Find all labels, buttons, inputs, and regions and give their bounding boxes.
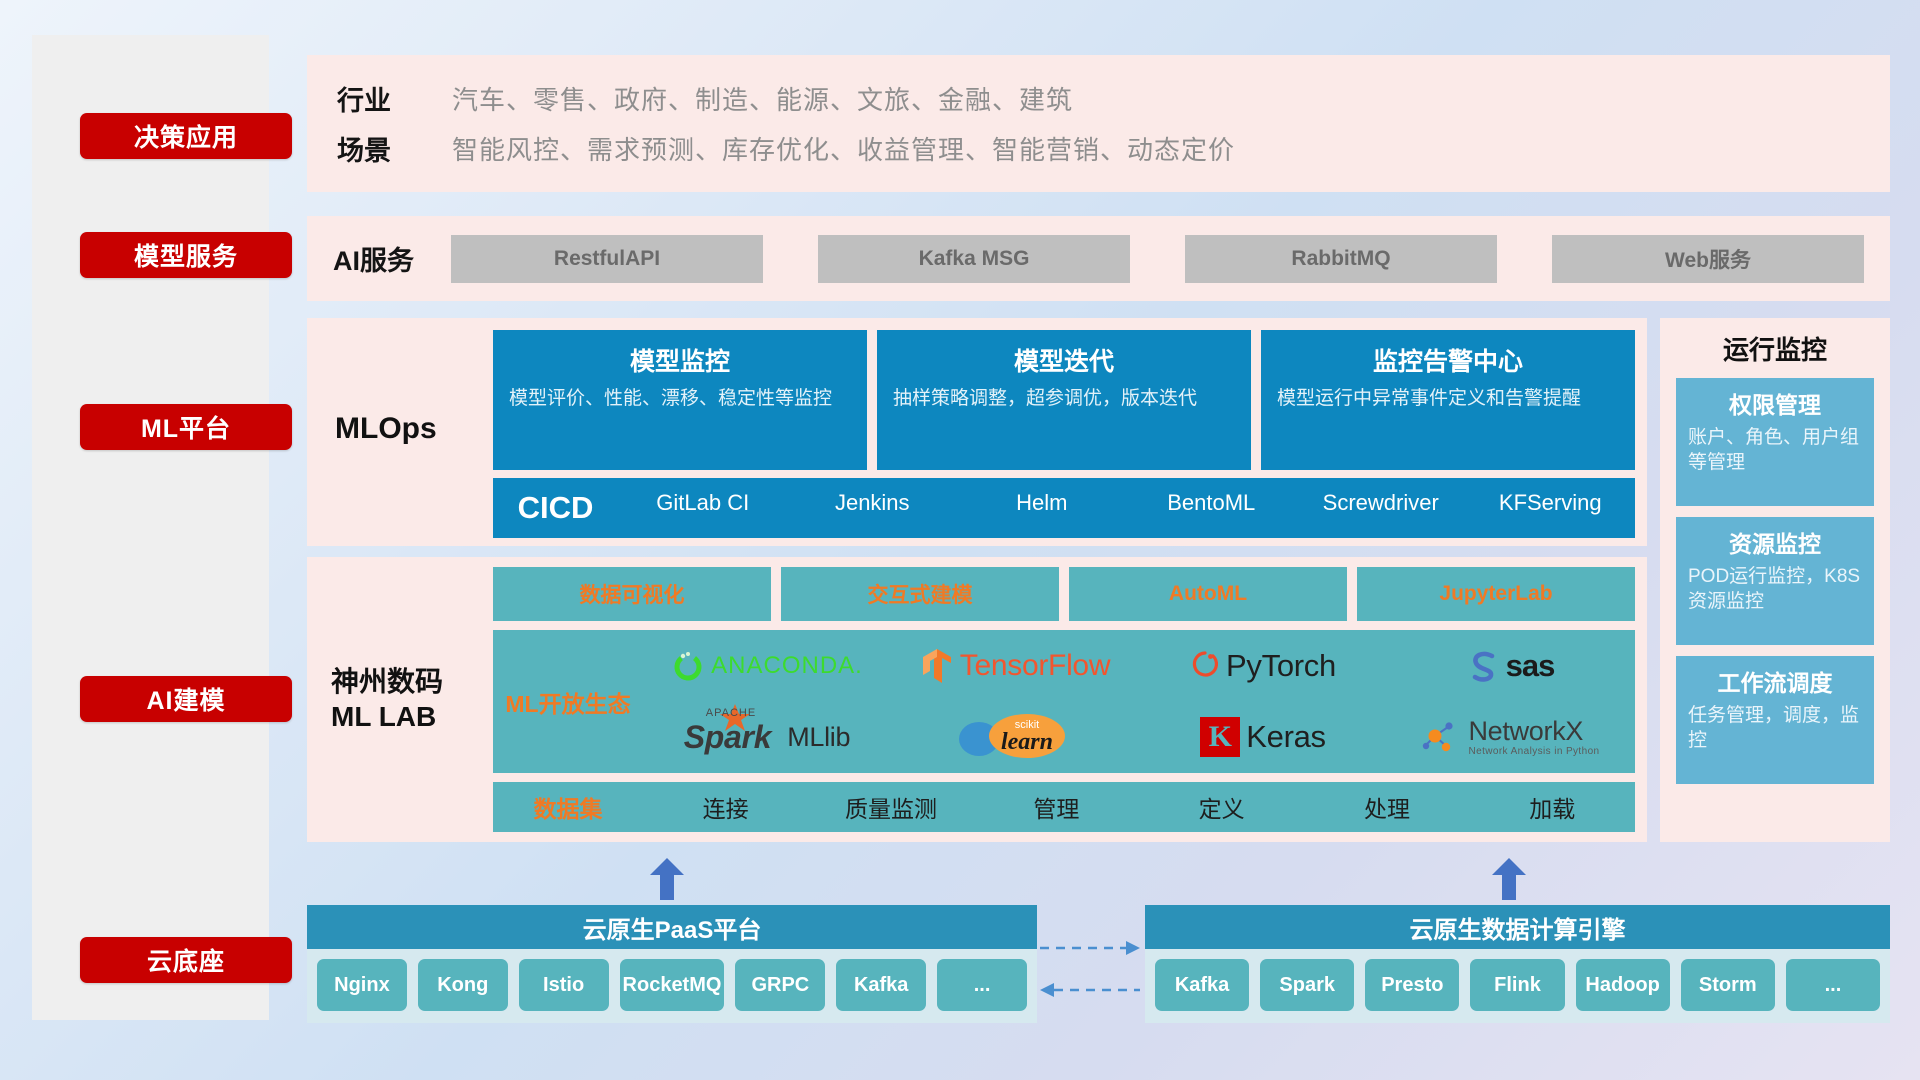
service-box-rabbitmq[interactable]: RabbitMQ (1185, 235, 1497, 283)
engine-title: 云原生数据计算引擎 (1145, 905, 1890, 949)
dataset-item-process[interactable]: 处理 (1304, 790, 1469, 824)
ml-ecosystem-panel: ML开放生态 ANACONDA. (493, 630, 1635, 773)
card-desc: 模型运行中异常事件定义和告警提醒 (1277, 387, 1619, 412)
sas-icon (1468, 649, 1500, 683)
tab-data-visualization[interactable]: 数据可视化 (493, 567, 771, 621)
card-title: 模型监控 (509, 342, 851, 378)
sas-wordmark: sas (1506, 648, 1555, 684)
up-arrow-paas (648, 858, 686, 900)
rail-label: 模型服务 (134, 237, 238, 273)
engine-chip-kafka[interactable]: Kafka (1155, 959, 1249, 1011)
architecture-diagram: 决策应用 模型服务 ML平台 AI建模 云底座 行业 汽车、零售、政府、制造、能… (0, 0, 1920, 1080)
paas-chip-grpc[interactable]: GRPC (735, 959, 825, 1011)
industry-values: 汽车、零售、政府、制造、能源、文旅、金融、建筑 (452, 80, 1073, 117)
card-title: 资源监控 (1688, 525, 1862, 559)
card-desc: 抽样策略调整，超参调优，版本迭代 (893, 387, 1235, 412)
card-title: 监控告警中心 (1277, 342, 1619, 378)
keras-mark-box: K (1200, 717, 1240, 757)
anaconda-icon (671, 649, 705, 683)
engine-chip-flink[interactable]: Flink (1470, 959, 1564, 1011)
mlops-band: MLOps 模型监控 模型评价、性能、漂移、稳定性等监控 模型迭代 抽样策略调整… (307, 318, 1647, 546)
tensorflow-icon (920, 647, 954, 685)
paas-chip-rocketmq[interactable]: RocketMQ (620, 959, 725, 1011)
networkx-tagline: Network Analysis in Python (1468, 747, 1599, 757)
scenario-values: 智能风控、需求预测、库存优化、收益管理、智能营销、动态定价 (452, 130, 1235, 167)
card-desc: 账户、角色、用户组等管理 (1688, 426, 1862, 475)
dataset-bar: 数据集 连接 质量监测 管理 定义 处理 加载 (493, 782, 1635, 832)
tensorflow-wordmark: TensorFlow (960, 649, 1110, 683)
dataset-item-load[interactable]: 加载 (1470, 790, 1635, 824)
cicd-item-bentoml[interactable]: BentoML (1127, 489, 1297, 517)
paas-chip-nginx[interactable]: Nginx (317, 959, 407, 1011)
networkx-icon (1422, 718, 1462, 756)
ml-ecosystem-title: ML开放生态 (493, 685, 643, 719)
rail-label: ML平台 (141, 409, 231, 445)
mlops-label: MLOps (335, 412, 437, 446)
tab-automl[interactable]: AutoML (1069, 567, 1347, 621)
monitor-card-workflow[interactable]: 工作流调度 任务管理，调度，监控 (1676, 656, 1874, 784)
cicd-item-kfserving[interactable]: KFServing (1466, 489, 1636, 517)
dataset-item-quality[interactable]: 质量监测 (808, 790, 973, 824)
runtime-monitor-panel: 运行监控 权限管理 账户、角色、用户组等管理 资源监控 POD运行监控，K8S资… (1660, 318, 1890, 842)
service-box-web[interactable]: Web服务 (1552, 235, 1864, 283)
pytorch-icon (1190, 649, 1220, 683)
ml-lab-line1: 神州数码 (331, 664, 443, 699)
cicd-item-helm[interactable]: Helm (957, 489, 1127, 517)
anaconda-wordmark: ANACONDA. (711, 652, 863, 680)
cicd-title: CICD (493, 490, 618, 526)
cloud-native-paas-block: 云原生PaaS平台 Nginx Kong Istio RocketMQ GRPC… (307, 905, 1037, 1023)
rail-tag-model-service[interactable]: 模型服务 (80, 232, 292, 278)
tensorflow-logo: TensorFlow (920, 647, 1110, 685)
card-title: 工作流调度 (1688, 664, 1862, 698)
pytorch-logo: PyTorch (1190, 648, 1336, 684)
rail-tag-ai-modeling[interactable]: AI建模 (80, 676, 292, 722)
paas-chip-kafka[interactable]: Kafka (836, 959, 926, 1011)
rail-tag-decision[interactable]: 决策应用 (80, 113, 292, 159)
engine-chip-spark[interactable]: Spark (1260, 959, 1354, 1011)
scikit-learn-icon: scikit learn (955, 711, 1075, 763)
tab-jupyterlab[interactable]: JupyterLab (1357, 567, 1635, 621)
ml-lab-label: 神州数码 ML LAB (331, 664, 443, 734)
dataset-item-connect[interactable]: 连接 (643, 790, 808, 824)
card-desc: 模型评价、性能、漂移、稳定性等监控 (509, 387, 851, 412)
mlops-card-model-monitoring[interactable]: 模型监控 模型评价、性能、漂移、稳定性等监控 (493, 330, 867, 470)
ai-service-label: AI服务 (333, 239, 451, 278)
paas-chip-more[interactable]: ... (937, 959, 1027, 1011)
dataset-item-define[interactable]: 定义 (1139, 790, 1304, 824)
dataset-title: 数据集 (493, 790, 643, 824)
service-box-kafka-msg[interactable]: Kafka MSG (818, 235, 1130, 283)
engine-chip-presto[interactable]: Presto (1365, 959, 1459, 1011)
rail-label: 决策应用 (134, 118, 238, 154)
paas-chip-kong[interactable]: Kong (418, 959, 508, 1011)
paas-title: 云原生PaaS平台 (307, 905, 1037, 949)
card-title: 模型迭代 (893, 342, 1235, 378)
spark-mllib-logo: APACHE Spark MLlib (684, 719, 850, 756)
anaconda-logo: ANACONDA. (671, 649, 863, 683)
keras-wordmark: Keras (1246, 719, 1325, 755)
layer-rail: 决策应用 模型服务 ML平台 AI建模 云底座 (32, 35, 269, 1020)
card-desc: POD运行监控，K8S资源监控 (1688, 565, 1862, 614)
engine-chip-more[interactable]: ... (1786, 959, 1880, 1011)
ml-lab-line2: ML LAB (331, 699, 443, 734)
rail-tag-cloud-base[interactable]: 云底座 (80, 937, 292, 983)
runtime-monitor-title: 运行监控 (1660, 318, 1890, 367)
mlops-card-model-iteration[interactable]: 模型迭代 抽样策略调整，超参调优，版本迭代 (877, 330, 1251, 470)
service-box-restfulapi[interactable]: RestfulAPI (451, 235, 763, 283)
spark-apache-text: APACHE (706, 707, 756, 719)
rail-label: 云底座 (147, 942, 225, 978)
cloud-native-data-engine-block: 云原生数据计算引擎 Kafka Spark Presto Flink Hadoo… (1145, 905, 1890, 1023)
scenario-label: 场景 (337, 129, 452, 168)
rail-tag-ml-platform[interactable]: ML平台 (80, 404, 292, 450)
industry-label: 行业 (337, 79, 452, 118)
cicd-item-jenkins[interactable]: Jenkins (788, 489, 958, 517)
keras-logo: K Keras (1200, 717, 1325, 757)
mllib-wordmark: MLlib (787, 722, 850, 753)
mlops-card-alert-center[interactable]: 监控告警中心 模型运行中异常事件定义和告警提醒 (1261, 330, 1635, 470)
scikit-learn-logo: scikit learn (955, 711, 1075, 763)
decision-row-industry: 行业 汽车、零售、政府、制造、能源、文旅、金融、建筑 (307, 74, 1890, 124)
svg-text:learn: learn (1001, 729, 1053, 755)
dataset-item-manage[interactable]: 管理 (974, 790, 1139, 824)
paas-chip-istio[interactable]: Istio (519, 959, 609, 1011)
networkx-wordmark: NetworkX (1468, 718, 1599, 745)
card-desc: 任务管理，调度，监控 (1688, 704, 1862, 753)
decision-application-band: 行业 汽车、零售、政府、制造、能源、文旅、金融、建筑 场景 智能风控、需求预测、… (307, 55, 1890, 192)
bidirectional-dashed-arrows (1040, 938, 1140, 1000)
ai-modeling-band: 神州数码 ML LAB 数据可视化 交互式建模 AutoML JupyterLa… (307, 557, 1647, 842)
engine-chip-storm[interactable]: Storm (1681, 959, 1775, 1011)
monitor-card-permission[interactable]: 权限管理 账户、角色、用户组等管理 (1676, 378, 1874, 506)
sas-logo: sas (1468, 648, 1555, 684)
tab-interactive-modeling[interactable]: 交互式建模 (781, 567, 1059, 621)
ai-service-band: AI服务 RestfulAPI Kafka MSG RabbitMQ Web服务 (307, 216, 1890, 301)
up-arrow-engine (1490, 858, 1528, 900)
pytorch-wordmark: PyTorch (1226, 648, 1336, 684)
cicd-bar: CICD GitLab CI Jenkins Helm BentoML Scre… (493, 478, 1635, 538)
monitor-card-resource[interactable]: 资源监控 POD运行监控，K8S资源监控 (1676, 517, 1874, 645)
engine-chip-hadoop[interactable]: Hadoop (1576, 959, 1670, 1011)
decision-row-scenario: 场景 智能风控、需求预测、库存优化、收益管理、智能营销、动态定价 (307, 124, 1890, 174)
rail-label: AI建模 (146, 681, 225, 717)
networkx-logo: NetworkX Network Analysis in Python (1422, 718, 1599, 757)
cicd-item-screwdriver[interactable]: Screwdriver (1296, 489, 1466, 517)
keras-mark-letter: K (1209, 720, 1232, 754)
cicd-item-gitlab-ci[interactable]: GitLab CI (618, 489, 788, 517)
card-title: 权限管理 (1688, 386, 1862, 420)
